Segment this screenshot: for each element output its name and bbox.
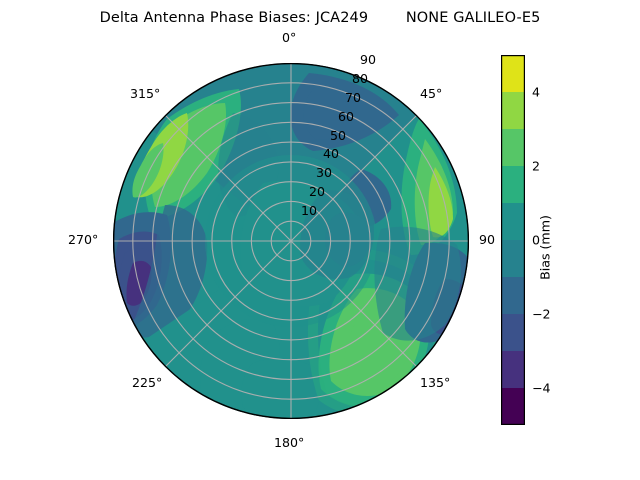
radial-tick-30: 30 <box>316 167 332 180</box>
colorbar-tick-neg4: −4 <box>532 381 551 396</box>
radial-tick-10: 10 <box>301 205 317 218</box>
polar-grid-spokes <box>113 63 469 419</box>
radial-tick-60: 60 <box>338 111 354 124</box>
angular-tick-135: 135° <box>420 377 450 390</box>
angular-tick-180: 180° <box>274 437 304 450</box>
colorbar-tick-neg2: −2 <box>532 307 551 322</box>
polar-axes[interactable] <box>113 63 469 419</box>
angular-tick-270: 270° <box>68 234 98 247</box>
angular-tick-315: 315° <box>130 88 160 101</box>
colorbar-gradient <box>501 55 525 425</box>
colorbar-tick-4: 4 <box>532 85 540 100</box>
colorbar-swatches <box>501 55 525 425</box>
angular-tick-45: 45° <box>420 88 442 101</box>
angular-tick-90: 90 <box>479 234 495 247</box>
angular-tick-225: 225° <box>132 377 162 390</box>
colorbar-axis-label: Bias (mm) <box>538 215 553 280</box>
radial-tick-90: 90 <box>360 54 376 67</box>
colorbar[interactable] <box>501 55 525 425</box>
angular-tick-0: 0° <box>282 32 296 45</box>
figure-title: Delta Antenna Phase Biases: JCA249 NONE … <box>0 10 640 26</box>
radial-tick-20: 20 <box>309 186 325 199</box>
radial-tick-40: 40 <box>323 148 339 161</box>
colorbar-tick-2: 2 <box>532 159 540 174</box>
radial-tick-50: 50 <box>330 130 346 143</box>
polar-contour-plot <box>113 63 469 419</box>
radial-tick-80: 80 <box>352 73 368 86</box>
figure-canvas: Delta Antenna Phase Biases: JCA249 NONE … <box>0 0 640 480</box>
radial-tick-70: 70 <box>345 92 361 105</box>
